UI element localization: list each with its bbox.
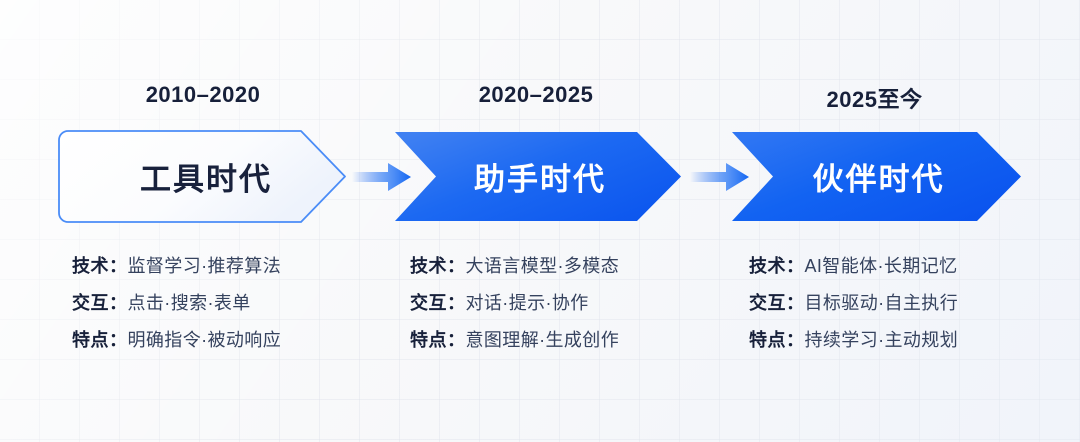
phase-3-year: 2025至今 [727, 82, 1022, 114]
phase-3-chevron[interactable]: 伙伴时代 [727, 130, 1022, 223]
phase-2-year: 2020–2025 [390, 82, 682, 108]
detail-row: 技术： 大语言模型·多模态 [410, 252, 702, 289]
detail-row: 技术： AI智能体·长期记忆 [749, 252, 1044, 289]
phase-1-year: 2010–2020 [58, 82, 348, 108]
detail-label: 特点： [749, 326, 805, 352]
phase-2-chevron[interactable]: 助手时代 [390, 130, 682, 223]
detail-label: 特点： [72, 326, 128, 352]
detail-label: 技术： [749, 252, 805, 278]
detail-row: 特点： 持续学习·主动规划 [749, 326, 1044, 363]
detail-label: 交互： [410, 289, 466, 315]
detail-value: 明确指令·被动响应 [128, 326, 282, 352]
detail-label: 技术： [410, 252, 466, 278]
phase-2-title: 助手时代 [390, 130, 682, 223]
detail-value: 目标驱动·自主执行 [805, 289, 959, 315]
phase-1-details: 技术： 监督学习·推荐算法 交互： 点击·搜索·表单 特点： 明确指令·被动响应 [72, 252, 362, 363]
phase-1-chevron[interactable]: 工具时代 [58, 130, 346, 223]
phase-1-title: 工具时代 [58, 130, 346, 223]
detail-label: 交互： [72, 289, 128, 315]
detail-row: 技术： 监督学习·推荐算法 [72, 252, 362, 289]
phase-2-details: 技术： 大语言模型·多模态 交互： 对话·提示·协作 特点： 意图理解·生成创作 [410, 252, 702, 363]
detail-value: 意图理解·生成创作 [466, 326, 620, 352]
detail-row: 交互： 目标驱动·自主执行 [749, 289, 1044, 326]
detail-row: 交互： 点击·搜索·表单 [72, 289, 362, 326]
detail-value: 大语言模型·多模态 [466, 252, 620, 278]
phase-2: 2020–2025 助手时代 技术： 大语言模型·多模态 交 [390, 0, 682, 442]
timeline-infographic: 2010–2020 工具时代 技术： 监督学习·推荐算法 交 [0, 0, 1080, 442]
detail-value: 监督学习·推荐算法 [128, 252, 282, 278]
detail-value: 对话·提示·协作 [466, 289, 589, 315]
detail-value: 持续学习·主动规划 [805, 326, 959, 352]
detail-row: 特点： 意图理解·生成创作 [410, 326, 702, 363]
detail-row: 特点： 明确指令·被动响应 [72, 326, 362, 363]
phase-1: 2010–2020 工具时代 技术： 监督学习·推荐算法 交 [58, 0, 348, 442]
detail-value: 点击·搜索·表单 [128, 289, 251, 315]
phase-3: 2025至今 伙伴时代 技术： AI智能体·长期记忆 交互： [727, 0, 1022, 442]
detail-label: 特点： [410, 326, 466, 352]
detail-value: AI智能体·长期记忆 [805, 252, 958, 278]
phase-3-title: 伙伴时代 [727, 130, 1022, 223]
detail-row: 交互： 对话·提示·协作 [410, 289, 702, 326]
phase-3-details: 技术： AI智能体·长期记忆 交互： 目标驱动·自主执行 特点： 持续学习·主动… [749, 252, 1044, 363]
detail-label: 技术： [72, 252, 128, 278]
detail-label: 交互： [749, 289, 805, 315]
